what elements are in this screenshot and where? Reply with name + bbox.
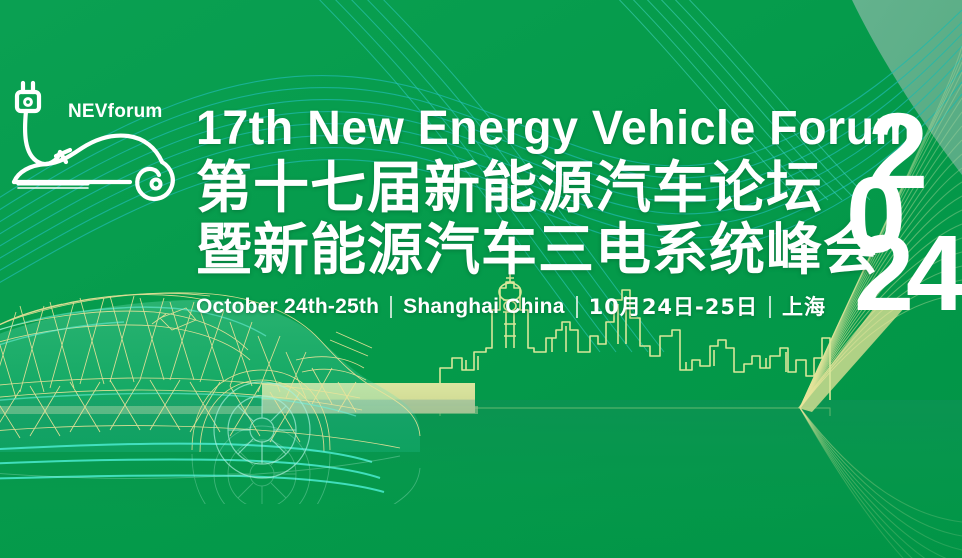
logo-wordmark: NEVforum bbox=[68, 101, 163, 123]
meta-separator-2 bbox=[576, 296, 578, 318]
event-banner: NEVforum 2 0 2 4 17th New Energy Vehicle… bbox=[0, 0, 962, 558]
plug-icon bbox=[17, 92, 39, 111]
meta-location-chinese: 上海 bbox=[782, 295, 826, 319]
meta-separator-1 bbox=[390, 296, 392, 318]
event-meta-line: October 24th-25th Shanghai China 10月24日-… bbox=[196, 295, 836, 319]
meta-date-english: October 24th-25th bbox=[196, 295, 379, 319]
year-2024-graphic: 2 0 2 4 bbox=[836, 104, 962, 316]
meta-location-english: Shanghai China bbox=[403, 295, 564, 319]
year-digit-4: 4 bbox=[906, 212, 962, 316]
title-chinese-line1: 第十七届新能源汽车论坛 bbox=[196, 159, 836, 219]
title-chinese-line2: 暨新能源汽车三电系统峰会 bbox=[196, 221, 836, 281]
logo-text-bold: NEV bbox=[68, 101, 108, 122]
meta-date-chinese: 10月24日-25日 bbox=[589, 295, 758, 319]
headline-block: 17th New Energy Vehicle Forum 第十七届新能源汽车论… bbox=[196, 103, 836, 319]
nevforum-logo-icon bbox=[4, 72, 182, 222]
meta-separator-3 bbox=[769, 296, 771, 318]
title-english: 17th New Energy Vehicle Forum bbox=[196, 103, 817, 155]
logo-text-light: forum bbox=[108, 101, 163, 122]
